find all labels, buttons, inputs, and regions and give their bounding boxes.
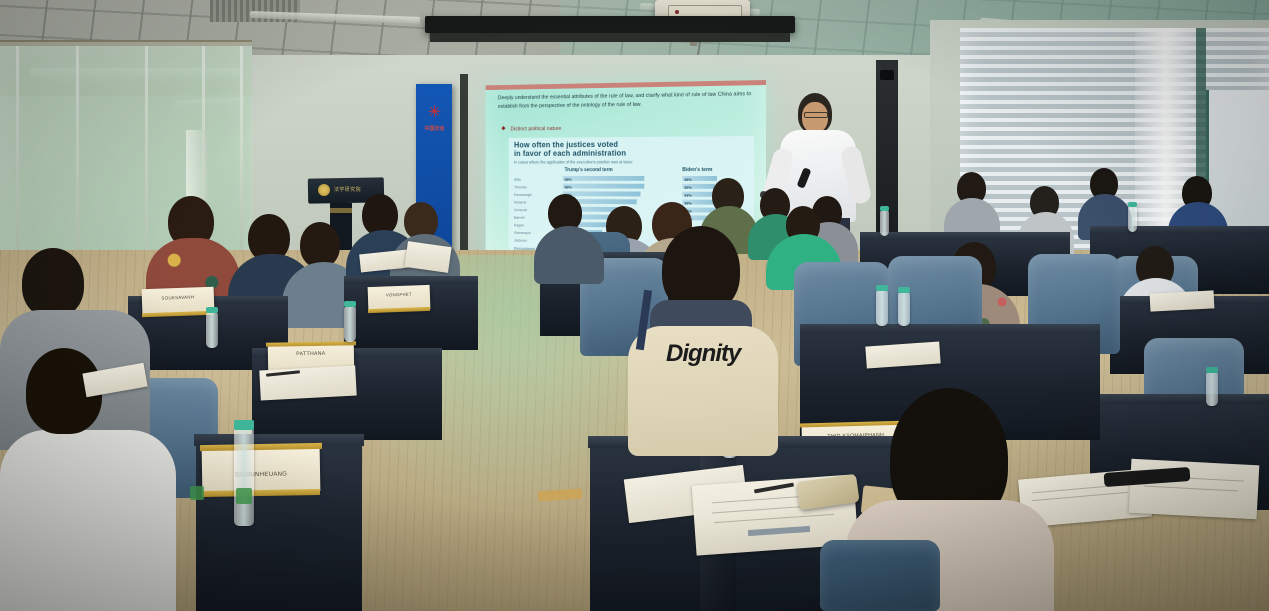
chart-title-line2: in favor of each administration (514, 148, 700, 158)
slide-bullet-text: Distinct political nature (510, 124, 695, 134)
chart-column-header-biden: Biden's term (682, 167, 712, 173)
presenter-glasses-icon (804, 112, 828, 118)
speaker-grille (880, 70, 894, 80)
table-center-front-top (800, 324, 1100, 334)
red-star-icon: ✳ (426, 104, 443, 121)
chart-row-label: Barrett (514, 215, 524, 220)
chart-bar-trump (563, 176, 645, 181)
podium-label: 法学研究院 (334, 186, 361, 193)
bottle-cap[interactable] (880, 206, 889, 211)
name-card-text: PATTHANA (268, 350, 354, 358)
podium-accent-band (330, 208, 352, 213)
chart-bar-trump (563, 191, 641, 197)
institutional-seal-icon (318, 184, 330, 196)
name-card-sibounheuang: SIBOUNHEUANG (202, 447, 321, 493)
banner-caption: 中国法治 (420, 126, 449, 132)
bottle-cap[interactable] (206, 307, 218, 313)
bottle-cap[interactable] (344, 301, 356, 307)
name-card-text: VONGPHET (368, 290, 430, 299)
slide-body-text: Deeply understand the essential attribut… (498, 90, 752, 111)
paper-sheet-right[interactable] (1150, 290, 1215, 311)
name-card-text: SOUKSAVANH (142, 293, 214, 303)
bottle-cap[interactable] (1128, 202, 1137, 207)
bottle-cap[interactable] (898, 287, 910, 293)
chart-value-trump: 88% (565, 184, 572, 189)
conference-room-photo: Deeply understand the essential attribut… (0, 0, 1269, 611)
table-far-right-top (1090, 226, 1269, 234)
water-bottle[interactable] (206, 312, 218, 348)
table-back-right-top (860, 232, 1070, 240)
paper-sheet-left-4[interactable] (259, 366, 356, 401)
bottle-cap[interactable] (234, 420, 254, 430)
chart-value-biden: 38% (684, 176, 692, 181)
chart-value-biden: 43% (684, 192, 692, 197)
shirt-graphic-text: Dignity (666, 340, 772, 366)
attendee-head-left-front (22, 248, 84, 318)
projector-led-power (675, 10, 679, 14)
water-bottle[interactable] (898, 292, 910, 326)
chart-value-biden: 38% (684, 200, 692, 205)
bottle-cap[interactable] (1206, 367, 1218, 373)
chart-subtitle: In cases where the application of the ex… (514, 159, 719, 164)
water-bottle[interactable] (876, 290, 888, 326)
chart-value-trump: 88% (565, 176, 572, 181)
attendee-head-left-3 (300, 222, 340, 268)
chart-row-label: Thomas (514, 184, 527, 189)
projection-screen-roller (430, 33, 790, 42)
chart-row-label: Jackson (514, 238, 527, 243)
attendee-body-left-bottom (0, 430, 176, 611)
bottle-label (236, 488, 252, 504)
bottle-cap[interactable] (876, 285, 888, 291)
chart-value-biden: 36% (684, 184, 692, 189)
screen-left-edge (460, 74, 468, 274)
chart-bar-trump (563, 184, 645, 189)
projection-screen-housing (425, 16, 795, 33)
chart-row-label: Alito (514, 177, 521, 182)
chart-row-label: Sotomayor (514, 230, 531, 235)
table-right-front-top (1090, 394, 1269, 404)
name-card-text: SIBOUNHEUANG (202, 471, 320, 480)
table-left-2-top (344, 276, 478, 284)
chart-row-label: Kagan (514, 222, 524, 227)
water-bottle[interactable] (1128, 206, 1137, 232)
water-bottle-large[interactable] (234, 428, 254, 526)
water-bottle[interactable] (880, 210, 889, 236)
water-bottle[interactable] (344, 306, 356, 342)
chair-foreground-2[interactable] (820, 540, 940, 611)
chart-row-label: Roberts (514, 200, 526, 205)
chart-row-label: Kavanaugh (514, 192, 532, 197)
slide-bullet-marker: ◆ (502, 126, 506, 132)
chart-column-header-trump: Trump's second term (565, 167, 613, 173)
bottle-label-2 (190, 486, 204, 500)
water-bottle[interactable] (1206, 372, 1218, 406)
chart-row-label: Gorsuch (514, 207, 527, 212)
